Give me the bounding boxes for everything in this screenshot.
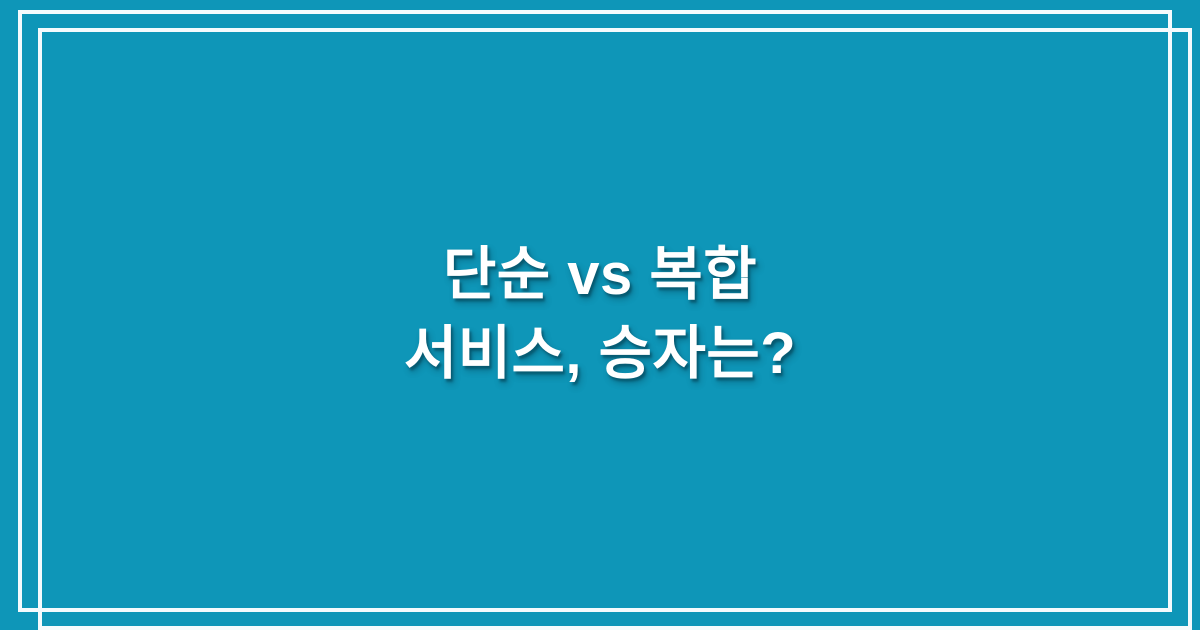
thumbnail-canvas: 단순 vs 복합 서비스, 승자는?: [0, 0, 1200, 630]
title-block: 단순 vs 복합 서비스, 승자는?: [0, 0, 1200, 630]
title-line-2: 서비스, 승자는?: [404, 316, 796, 393]
title-line-1: 단순 vs 복합: [443, 237, 757, 314]
